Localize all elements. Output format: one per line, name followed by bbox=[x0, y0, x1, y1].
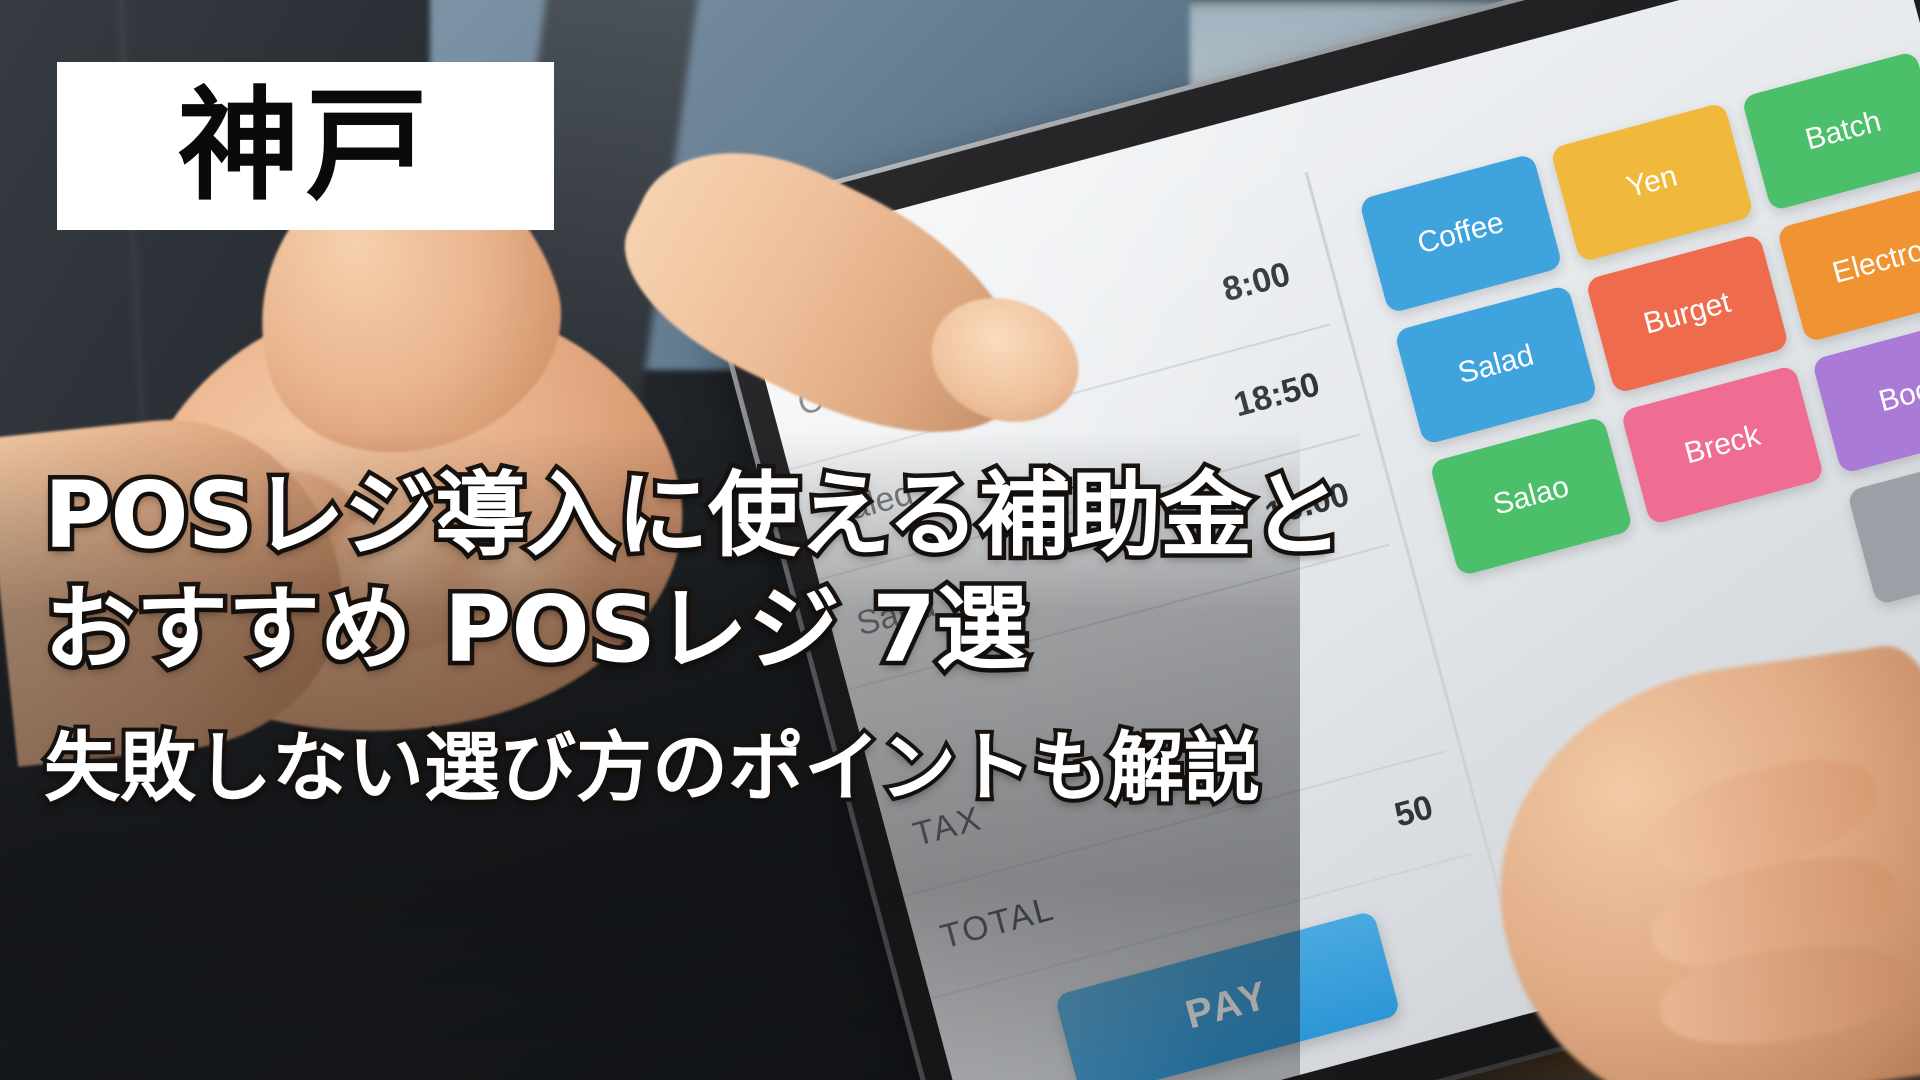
pos-key-coffee[interactable]: Coffee bbox=[1359, 153, 1563, 314]
headline-line-2: おすすめ POSレジ 7選 bbox=[44, 584, 1894, 676]
region-badge: 神戸 bbox=[57, 62, 554, 230]
pos-key-batch[interactable]: Batch bbox=[1741, 51, 1920, 212]
pos-order-time: 18:50 bbox=[1230, 365, 1324, 425]
pos-key-booo[interactable]: Booo bbox=[1812, 314, 1920, 475]
headline: POSレジ導入に使える補助金と おすすめ POSレジ 7選 bbox=[44, 470, 1894, 676]
headline-subtitle: 失敗しない選び方のポイントも解説 bbox=[44, 730, 1894, 806]
headline-line-1: POSレジ導入に使える補助金と bbox=[44, 470, 1894, 562]
pos-total-label: TOTAL bbox=[937, 890, 1060, 958]
pos-key-burget[interactable]: Burget bbox=[1585, 233, 1789, 394]
pos-key-electro[interactable]: Electro bbox=[1776, 182, 1920, 343]
pos-key-yen[interactable]: Yen bbox=[1550, 102, 1754, 263]
region-badge-label: 神戸 bbox=[178, 85, 434, 207]
hero-banner: Corfe 8:00 Saled 18:50 Sand 10.00 TAX bbox=[0, 0, 1920, 1080]
pos-order-time: 8:00 bbox=[1219, 255, 1295, 310]
pos-key-salad[interactable]: Salad bbox=[1394, 285, 1598, 446]
